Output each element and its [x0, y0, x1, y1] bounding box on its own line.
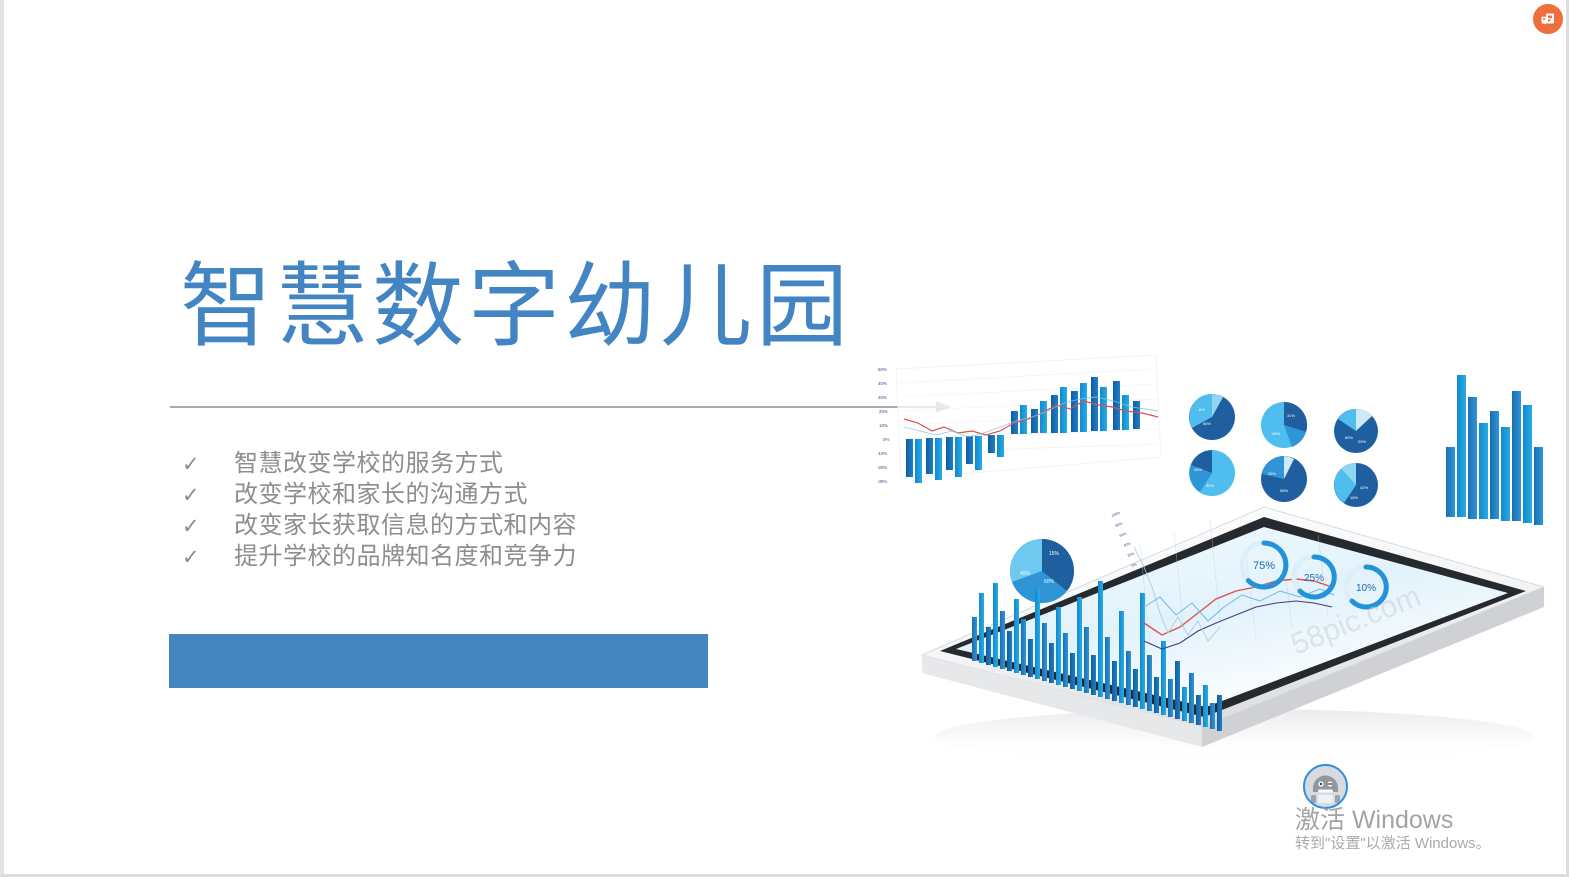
floating-bar-group-right [1446, 375, 1543, 525]
svg-text:30%: 30% [878, 395, 887, 400]
list-item-label: 智慧改变学校的服务方式 [234, 443, 504, 478]
svg-text:20%: 20% [1127, 551, 1136, 558]
svg-text:0%: 0% [883, 437, 889, 442]
svg-text:10%: 10% [879, 423, 888, 428]
svg-text:31%: 31% [1287, 413, 1295, 418]
floating-combo-chart: 50%40% 30%20% 10%0% -10%-20% -30% [877, 355, 1161, 484]
list-item: ✓ 改变家长获取信息的方式和内容 [182, 505, 742, 536]
tablet-device: 45% 60% 15% [922, 507, 1544, 765]
list-item-label: 提升学校的品牌知名度和竞争力 [234, 536, 577, 571]
svg-text:58%: 58% [1280, 488, 1288, 493]
gauge-25-label: 25% [1304, 573, 1324, 584]
list-item-label: 改变家长获取信息的方式和内容 [234, 505, 577, 540]
windows-activation-watermark: 激活 Windows 转到"设置"以激活 Windows。 [1295, 806, 1491, 854]
svg-text:48%: 48% [1272, 431, 1280, 436]
svg-text:80%: 80% [1115, 521, 1124, 528]
svg-text:30%: 30% [1206, 483, 1214, 488]
accent-bar [169, 634, 708, 688]
check-icon: ✓ [182, 485, 234, 506]
pie-chart-cluster: 65% 8% 48% 31% 60% 25% [1189, 394, 1378, 507]
svg-text:18%: 18% [1350, 495, 1358, 500]
watermark-subtitle: 转到"设置"以激活 Windows。 [1295, 834, 1491, 854]
svg-text:60%: 60% [1044, 579, 1055, 585]
svg-text:25%: 25% [1358, 439, 1366, 444]
svg-text:45%: 45% [1194, 467, 1202, 472]
list-item: ✓ 改变学校和家长的沟通方式 [182, 474, 742, 505]
robot-icon [1305, 766, 1346, 807]
gauge-10-label: 10% [1356, 583, 1376, 594]
list-item: ✓ 智慧改变学校的服务方式 [182, 443, 742, 474]
svg-text:-20%: -20% [877, 465, 887, 470]
svg-text:100%: 100% [1111, 510, 1122, 517]
svg-text:-30%: -30% [877, 479, 887, 484]
svg-text:15%: 15% [1049, 551, 1060, 557]
svg-text:40%: 40% [1123, 541, 1132, 548]
svg-text:50%: 50% [878, 367, 887, 372]
bullet-list: ✓ 智慧改变学校的服务方式 ✓ 改变学校和家长的沟通方式 ✓ 改变家长获取信息的… [182, 443, 742, 567]
presentation-slide: 智慧数字幼儿园 ✓ 智慧改变学校的服务方式 ✓ 改变学校和家长的沟通方式 ✓ 改… [0, 0, 1569, 877]
svg-text:45%: 45% [1020, 571, 1031, 577]
list-item-label: 改变学校和家长的沟通方式 [234, 474, 528, 509]
svg-text:40%: 40% [878, 381, 887, 386]
svg-text:8%: 8% [1199, 407, 1205, 412]
check-icon: ✓ [182, 454, 234, 475]
share-glyph-icon [1539, 10, 1557, 28]
svg-text:65%: 65% [1203, 421, 1211, 426]
arrow-right-icon [170, 399, 952, 415]
check-icon: ✓ [182, 516, 234, 537]
assistant-robot-avatar[interactable] [1303, 764, 1348, 809]
arrow-divider [170, 399, 952, 415]
svg-text:20%: 20% [879, 409, 888, 414]
check-icon: ✓ [182, 547, 234, 568]
list-item: ✓ 提升学校的品牌知名度和竞争力 [182, 536, 742, 567]
gauge-75-label: 75% [1253, 560, 1275, 572]
slide-title: 智慧数字幼儿园 [180, 258, 852, 357]
svg-text:42%: 42% [1360, 485, 1368, 490]
svg-text:60%: 60% [1119, 531, 1128, 538]
tablet-data-visualization-illustration: 50%40% 30%20% 10%0% -10%-20% -30% [844, 355, 1569, 775]
presentation-share-icon[interactable] [1533, 4, 1563, 34]
svg-text:35%: 35% [1268, 471, 1276, 476]
svg-text:60%: 60% [1345, 435, 1353, 440]
watermark-title: 激活 Windows [1295, 806, 1491, 834]
svg-text:-10%: -10% [877, 451, 887, 456]
